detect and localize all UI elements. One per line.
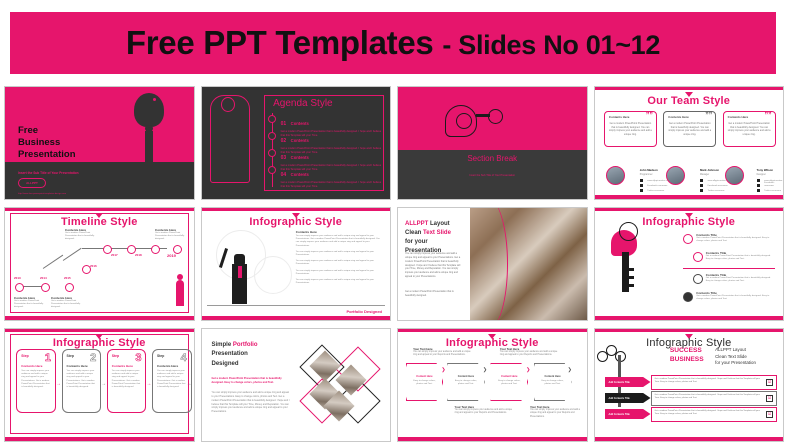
chevron-2-label: Content Here — [448, 375, 484, 378]
slide10-headline-2: Portfolio — [233, 342, 258, 348]
slide12-arrow-1: Add Contents Title — [605, 377, 651, 387]
slide8-item-3: Contents Title Get a modern PowerPoint P… — [706, 273, 775, 283]
step-3-text: You can simply impress your audience and… — [112, 370, 142, 389]
team-bubble-1-heading: Contents Here — [609, 115, 630, 119]
agenda-item-4-label: Contents — [291, 172, 309, 177]
step-4-label: Step — [157, 354, 164, 358]
step-3-number: 3 — [135, 352, 141, 364]
twitter-icon-1 — [640, 189, 643, 192]
chevron-arrow-4-icon: ❯ — [568, 367, 572, 373]
agenda-item-3-label: Contents — [291, 155, 309, 160]
email-icon-3 — [757, 179, 760, 182]
chevron-1: Content Here Easy to change colors, phot… — [406, 363, 444, 401]
caption-3-text: You can simply impress your audience and… — [455, 409, 515, 416]
team-bubble-3-text: Get a modern PowerPoint Presentation tha… — [728, 122, 771, 136]
team-bubble-3: ”” Contents Here Get a modern PowerPoint… — [723, 111, 776, 147]
step-card-3: Step 3 Contents Here You can simply impr… — [107, 349, 147, 413]
agenda-item-4: 04 Contents Get a modern PowerPoint Pres… — [281, 163, 382, 189]
slide-thumbnail-10[interactable]: Simple Portfolio Presentation Designed G… — [201, 328, 392, 442]
slide-thumbnail-3[interactable]: Section Break Insert the Sub Title of Yo… — [397, 86, 588, 200]
timeline-node-7 — [151, 245, 160, 254]
accent-bar-bottom — [595, 195, 784, 199]
slide6-title: Infographic Style — [202, 216, 391, 228]
chevron-3: Content Here Easy to change colors, phot… — [490, 363, 528, 401]
list-icon-4 — [683, 292, 693, 302]
timeline-year-7: 2019 — [167, 253, 176, 258]
slide5-title: Timeline Style — [5, 216, 194, 228]
key-tooth-3-icon — [629, 284, 634, 287]
slide-thumbnail-5[interactable]: Timeline Style 2013 2014 2015 2016 2017 … — [4, 207, 195, 321]
chevron-3-label: Content Here — [491, 375, 527, 378]
slide12-box-2-text: Get a modern PowerPoint Presentation tha… — [655, 394, 765, 400]
accent-bar-top — [202, 208, 391, 211]
chevron-arrow-3-icon: ❯ — [526, 367, 530, 373]
timeline-caption-1: Contents Here Get a modern PowerPoint Pr… — [14, 296, 46, 310]
timeline-year-1: 2013 — [14, 276, 21, 280]
chevron-1-text: Easy to change colors, photos and Text. — [411, 380, 439, 387]
slide10-headline-3: Presentation — [212, 350, 258, 359]
agenda-item-1-number: 01 — [281, 121, 287, 127]
slide-thumbnail-1[interactable]: Free Business Presentation Insert the Su… — [4, 86, 195, 200]
timeline-caption-4-text: Get a modern PowerPoint Presentation tha… — [155, 232, 189, 242]
member-1-name: John Madson — [640, 168, 658, 172]
facebook-icon-2 — [700, 184, 703, 187]
slide12-success-line-2: BUSINESS — [670, 356, 704, 365]
slide7-headline-5: for your — [405, 238, 451, 247]
avatar-2 — [666, 166, 685, 185]
slide6-content-text: You can simply impress your audience and… — [296, 235, 382, 248]
slide6-bullet-2: You can simply impress your audience and… — [296, 260, 382, 266]
member-3-role: Designer — [757, 174, 766, 176]
list-icon-1 — [683, 234, 693, 244]
checkbox-icon-1: ☑ — [766, 379, 773, 386]
slide10-headline-4: Designed — [212, 360, 258, 369]
team-bubble-2-text: Get a modern PowerPoint Presentation tha… — [668, 122, 711, 136]
member-2-role: Manager — [700, 174, 709, 176]
slide12-success-text: SUCCESS BUSINESS — [670, 347, 704, 365]
timeline-year-5: 2017 — [111, 253, 118, 257]
slide12-box-1-text: Get a modern PowerPoint Presentation tha… — [655, 378, 765, 384]
slide6-bullet-3: You can simply impress your audience and… — [296, 270, 382, 276]
timeline-caption-1-text: Get a modern PowerPoint Presentation tha… — [14, 300, 46, 310]
chevron-caption-bottom-1: Your Text Here You can simply impress yo… — [455, 405, 515, 416]
key-ring-left-icon — [597, 351, 608, 362]
accent-bar-top — [595, 208, 784, 211]
member-1-contact-3: Twitter-username — [647, 190, 664, 193]
slide-thumbnail-9[interactable]: Infographic Style Step 1 Contents Here Y… — [4, 328, 195, 442]
step-arrow-4-icon: → — [187, 381, 192, 387]
chevron-2-text: Easy to change colors, photos and Text. — [452, 380, 480, 387]
member-1-role: Programmer — [640, 174, 653, 176]
quote-icon-2: ”” — [705, 114, 712, 118]
key-tooth-2-icon — [629, 276, 634, 279]
key-tooth-1-icon — [629, 268, 634, 271]
slide10-subtext: Get a modern PowerPoint Presentation tha… — [212, 377, 291, 385]
chevron-4: Content Here Easy to change colors, phot… — [534, 363, 572, 401]
facebook-icon-1 — [640, 184, 643, 187]
chevron-3-text: Easy to change colors, photos and Text. — [495, 380, 523, 387]
gear-background-icon-2 — [254, 256, 292, 294]
member-3-contact-3: Twitter-username — [764, 190, 781, 193]
team-bubble-3-heading: Contents Here — [728, 115, 749, 119]
slide10-headline: Simple Portfolio Presentation Designed — [212, 341, 258, 369]
slide1-title: Free Business Presentation — [18, 125, 76, 161]
slide12-success-line-1: SUCCESS — [670, 347, 704, 356]
slide-thumbnail-8[interactable]: Infographic Style Contents Title Get a m… — [594, 207, 785, 321]
timeline-year-4: 2016 — [90, 264, 97, 268]
step-card-1: Step 1 Contents Here You can simply impr… — [16, 349, 56, 413]
avatar-1 — [606, 166, 625, 185]
email-icon-2 — [700, 179, 703, 182]
member-2-contact-3: Twitter-username — [708, 190, 725, 193]
team-bubble-1-text: Get a modern PowerPoint Presentation tha… — [609, 122, 652, 136]
step-arrow-3-icon: → — [146, 381, 151, 387]
slide7-headline-3: Clean — [405, 230, 423, 236]
floor-line — [207, 305, 386, 307]
slide7-body2: Get a modern PowerPoint Presentation tha… — [405, 290, 462, 298]
chevron-arrow-2-icon: ❯ — [483, 367, 487, 373]
facebook-icon-3 — [757, 184, 760, 187]
slide12-arrow-3: Add Contents Title — [605, 409, 651, 419]
person-head-icon — [234, 254, 245, 266]
twitter-icon-3 — [757, 189, 760, 192]
businessman-head-icon — [221, 97, 235, 112]
slide3-subtitle: Insert the Sub Title of Your Presentatio… — [398, 174, 587, 177]
chevron-caption-top-2: Your Text Here You can simply impress yo… — [500, 347, 560, 358]
agenda-item-2-label: Contents — [291, 138, 309, 143]
key-bow-icon — [488, 109, 503, 124]
slide10-headline-1: Simple — [212, 342, 233, 348]
step-1-heading: Contents Here — [21, 364, 42, 368]
necktie-icon — [238, 266, 242, 278]
agenda-item-1-label: Contents — [291, 121, 309, 126]
caption-1-text: You can simply impress your audience and… — [413, 351, 473, 358]
step-arrow-2-icon: → — [101, 381, 106, 387]
step-1-number: 1 — [45, 352, 51, 364]
caption-2-text: You can simply impress your audience and… — [500, 351, 560, 358]
step-2-label: Step — [67, 354, 74, 358]
balloon-icon — [134, 93, 164, 127]
key-shaft-icon — [622, 252, 629, 292]
member-3-contact-2: Facebook-username — [764, 182, 783, 188]
list-icon-3 — [693, 274, 703, 284]
member-2-contact-2: Facebook-username — [708, 185, 728, 188]
slide10-body: You can simply impress your audience and… — [212, 391, 291, 414]
slide6-bullet-1: You can simply impress your audience and… — [296, 251, 382, 257]
chevron-caption-bottom-2: Your Text Here You can simply impress yo… — [530, 405, 583, 419]
checkbox-icon-3: ☑ — [766, 411, 773, 418]
slide7-headline-1: ALLPPT — [405, 221, 428, 227]
timeline-caption-4: Contents Here Get a modern PowerPoint Pr… — [155, 228, 189, 242]
accent-bar-bottom — [5, 316, 194, 320]
slide1-subtitle: Insert the Sub Title of Your Presentatio… — [18, 171, 79, 175]
step-2-number: 2 — [90, 352, 96, 364]
member-2-name: Mark Johnson — [700, 168, 719, 172]
accent-bar-bottom — [398, 437, 587, 441]
step-1-text: You can simply impress your audience and… — [21, 370, 51, 389]
curved-divider — [466, 207, 508, 321]
person-silhouette-icon — [176, 280, 184, 306]
timeline-caption-3: Contents Here Get a modern PowerPoint Pr… — [65, 228, 99, 242]
chevron-2: Content Here Easy to change colors, phot… — [447, 363, 485, 401]
slide8-item-1-text: Get a modern PowerPoint Presentation tha… — [696, 237, 775, 243]
accent-bar-top — [5, 329, 194, 332]
banner-title: Free PPT Templates - Slides No 01~12 — [126, 24, 660, 62]
timeline-caption-3-text: Get a modern PowerPoint Presentation tha… — [65, 232, 99, 242]
step-2-text: You can simply impress your audience and… — [67, 370, 97, 389]
list-icon-2 — [693, 252, 703, 262]
accent-bar-top — [5, 208, 194, 211]
slide1-url: http://www.free-powerpoint-templates-des… — [18, 193, 66, 195]
slide8-item-4: Contents Title Get a modern PowerPoint P… — [696, 291, 775, 301]
chevron-4-label: Content Here — [535, 375, 571, 378]
slide8-item-4-text: Get a modern PowerPoint Presentation tha… — [696, 295, 775, 301]
slide12-box-2: Get a modern PowerPoint Presentation tha… — [651, 391, 778, 406]
accent-bar-top — [398, 329, 587, 332]
step-2-heading: Contents Here — [67, 364, 88, 368]
slide12-box-3: Get a modern PowerPoint Presentation tha… — [651, 407, 778, 422]
slide-thumbnail-4[interactable]: Our Team Style ”” Contents Here Get a mo… — [594, 86, 785, 200]
timeline-node-2 — [41, 283, 50, 292]
quote-icon-1: ”” — [646, 114, 653, 118]
slide12-arrow-2: Add Contents Title — [605, 393, 651, 403]
slide8-divider — [683, 268, 775, 269]
slide8-item-3-text: Get a modern PowerPoint Presentation tha… — [706, 277, 775, 283]
agenda-item-2-number: 02 — [281, 138, 287, 144]
timeline-caption-2: Contents Here Get a modern PowerPoint Pr… — [51, 296, 83, 310]
step-4-text: You can simply impress your audience and… — [157, 370, 187, 389]
step-arrow-1-icon: → — [56, 381, 61, 387]
accent-bar-bottom — [5, 437, 194, 441]
chevron-arrow-1-icon: ❯ — [441, 367, 445, 373]
member-3-name: Tony Wilson — [757, 168, 773, 172]
timeline-year-3: 2015 — [64, 276, 71, 280]
timeline-caption-2-text: Get a modern PowerPoint Presentation tha… — [51, 300, 83, 310]
accent-bar-top — [595, 329, 784, 332]
slide7-headline-4: Text Slide — [423, 230, 451, 236]
slide12-box-1: Get a modern PowerPoint Presentation tha… — [651, 375, 778, 390]
step-card-2: Step 2 Contents Here You can simply impr… — [62, 349, 102, 413]
step-4-number: 4 — [181, 352, 187, 364]
team-bubble-2: ”” Contents Here Get a modern PowerPoint… — [663, 111, 716, 147]
step-3-heading: Contents Here — [112, 364, 133, 368]
slide6-bullet-4: You can simply impress your audience and… — [296, 279, 382, 285]
timeline-node-3 — [65, 283, 74, 292]
slide6-content-heading: Contents Here — [296, 230, 382, 234]
slide-thumbnail-11[interactable]: Infographic Style Content Here Easy to c… — [397, 328, 588, 442]
step-3-label: Step — [112, 354, 119, 358]
gear-icon — [456, 113, 472, 129]
team-bubble-1: ”” Contents Here Get a modern PowerPoint… — [604, 111, 657, 147]
slide8-item-1: Contents Title Get a modern PowerPoint P… — [696, 233, 775, 243]
timeline-node-1 — [15, 283, 24, 292]
slide7-body: You can simply impress your audience and… — [405, 252, 462, 279]
slide7-headline: ALLPPT Layout Clean Text Slide for your … — [405, 220, 451, 256]
chevron-4-text: Easy to change colors, photos and Text. — [539, 380, 567, 387]
agenda-item-4-text: Get a modern PowerPoint Presentation tha… — [281, 181, 382, 189]
caption-4-text: You can simply impress your audience and… — [530, 409, 583, 419]
accent-bar-bottom — [595, 437, 784, 441]
slide4-title: Our Team Style — [595, 95, 784, 107]
banner-title-main: Free PPT Templates — [126, 24, 434, 61]
balloon-highlight-icon — [153, 98, 156, 101]
slide-thumbnail-6[interactable]: Infographic Style Contents Here You can … — [201, 207, 392, 321]
key-ring-icon — [619, 222, 638, 241]
slide12-box-3-text: Get a modern PowerPoint Presentation tha… — [655, 410, 765, 416]
allppt-logo: ALLPPT — [18, 178, 46, 188]
slide8-item-2: Contents Title Get a modern PowerPoint P… — [706, 251, 775, 261]
slide-grid: Free Business Presentation Insert the Su… — [4, 86, 784, 442]
timeline-year-2: 2014 — [40, 276, 47, 280]
checkbox-icon-2: ☑ — [766, 395, 773, 402]
step-1-label: Step — [21, 354, 28, 358]
slide9-title: Infographic Style — [5, 337, 194, 349]
person-silhouette-head-icon — [177, 274, 183, 280]
slide8-item-2-text: Get a modern PowerPoint Presentation tha… — [706, 255, 775, 261]
twitter-icon-2 — [700, 189, 703, 192]
slide7-headline-2: Layout — [428, 221, 449, 227]
agenda-item-3-number: 03 — [281, 155, 287, 161]
avatar-3 — [725, 166, 744, 185]
template-preview-page: Free PPT Templates - Slides No 01~12 Fre… — [0, 0, 786, 445]
slide-thumbnail-12[interactable]: Infographic Style SUCCESS BUSINESS ALLPP… — [594, 328, 785, 442]
slide12-right-line-3: for your Presentation — [715, 360, 756, 367]
step-4-heading: Contents Here — [157, 364, 178, 368]
timeline-year-6: 2018 — [135, 253, 142, 257]
slide6-content: Contents Here You can simply impress you… — [296, 230, 382, 285]
accent-bar-bottom — [595, 316, 784, 320]
slide12-right-line-2: Clean Text Slide — [715, 354, 756, 361]
quote-icon-3: ”” — [765, 114, 772, 118]
accent-bar-top — [595, 87, 784, 90]
slide12-right-line-1: ALLPPT Layout — [715, 347, 756, 354]
member-1-contact-2: Facebook-username — [647, 185, 667, 188]
slide6-footer: Portfolio Designed — [346, 309, 382, 314]
slide3-title: Section Break — [398, 154, 587, 163]
accent-bar-bottom — [202, 316, 391, 320]
chevron-caption-top-1: Your Text Here You can simply impress yo… — [413, 347, 473, 358]
chevron-1-label: Content Here — [407, 375, 443, 378]
slide-thumbnail-2[interactable]: Agenda Style 01 Contents Get a modern Po… — [201, 86, 392, 200]
page-banner: Free PPT Templates - Slides No 01~12 — [10, 12, 776, 74]
slide12-right-text: ALLPPT Layout Clean Text Slide for your … — [715, 347, 756, 367]
slide2-title: Agenda Style — [273, 98, 333, 109]
slide-thumbnail-7[interactable]: ALLPPT Layout Clean Text Slide for your … — [397, 207, 588, 321]
team-bubble-2-heading: Contents Here — [668, 115, 689, 119]
email-icon-1 — [640, 179, 643, 182]
agenda-item-4-number: 04 — [281, 172, 287, 178]
banner-title-sub: - Slides No 01~12 — [442, 30, 660, 60]
